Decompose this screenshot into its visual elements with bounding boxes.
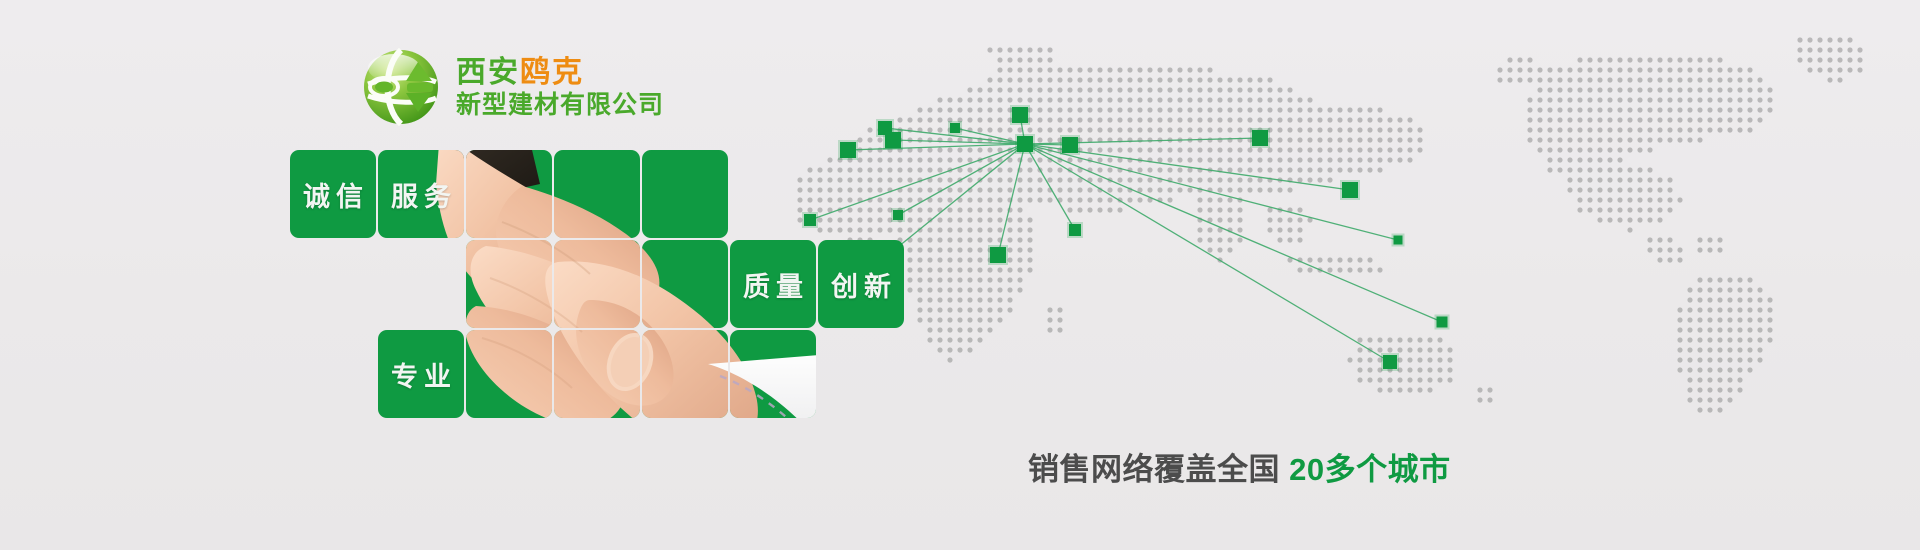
map-city-node (1342, 182, 1358, 198)
logo-brand-text: 鸥克 (520, 56, 584, 89)
photo-tile-t-r2c3[interactable] (466, 240, 552, 328)
handshake-photo-slice (730, 330, 816, 418)
handshake-photo-slice (466, 150, 552, 238)
map-hub-node (1017, 136, 1033, 152)
map-city-node (1062, 137, 1078, 153)
photo-tile-t-r1c5[interactable] (642, 150, 728, 238)
map-city-node (950, 123, 960, 133)
handshake-photo-slice (554, 150, 640, 238)
value-tile-t-r1c1[interactable]: 诚信 (290, 150, 376, 238)
handshake-photo-slice (466, 330, 552, 418)
photo-tile-t-r3c3[interactable] (466, 330, 552, 418)
photo-tile-t-r1c4[interactable] (554, 150, 640, 238)
handshake-photo-slice (642, 240, 728, 328)
value-tile-t-r2c7[interactable]: 创新 (818, 240, 904, 328)
logo-company-name-line2: 新型建材有限公司 (456, 91, 664, 120)
value-tile-label: 专业 (378, 330, 464, 418)
map-city-node (885, 132, 901, 148)
handshake-photo-slice (554, 240, 640, 328)
map-city-node (1383, 355, 1397, 369)
handshake-photo-slice (642, 330, 728, 418)
logo-company-name-line1: 西安鸥克 (456, 56, 664, 90)
map-city-node (990, 247, 1006, 263)
value-tile-t-r1c2[interactable]: 服务 (378, 150, 464, 238)
map-connection-line (1025, 144, 1075, 230)
value-tile-t-r2c6[interactable]: 质量 (730, 240, 816, 328)
value-tile-label: 创新 (818, 240, 904, 328)
sales-network-tagline: 销售网络覆盖全国 20多个城市 (1028, 444, 1451, 489)
photo-tile-t-r3c4[interactable] (554, 330, 640, 418)
map-connection-line (898, 144, 1025, 215)
tagline-prefix: 销售网络覆盖全国 (1028, 452, 1280, 487)
photo-tile-t-r3c5[interactable] (642, 330, 728, 418)
company-logo[interactable]: 西安鸥克 新型建材有限公司 (362, 48, 664, 126)
leaf-globe-emblem-icon (362, 48, 440, 126)
photo-tile-t-r2c4[interactable] (554, 240, 640, 328)
map-city-node (1012, 107, 1028, 123)
value-tile-label: 诚信 (290, 150, 376, 238)
map-city-node (1069, 224, 1081, 236)
map-city-node (1394, 236, 1403, 245)
map-city-node (1437, 317, 1448, 328)
value-tile-t-r3c2[interactable]: 专业 (378, 330, 464, 418)
banner-canvas: 西安鸥克 新型建材有限公司 诚信 (0, 0, 1920, 550)
map-connection-line (1025, 144, 1390, 362)
logo-city-text: 西安 (456, 56, 520, 89)
value-tile-label: 质量 (730, 240, 816, 328)
value-tile-label: 服务 (378, 150, 464, 238)
value-tile-mosaic: 诚信 服务 (290, 150, 910, 420)
photo-tile-t-r3c6[interactable] (730, 330, 816, 418)
photo-tile-t-r2c5[interactable] (642, 240, 728, 328)
handshake-photo-slice (554, 330, 640, 418)
handshake-photo-slice (466, 240, 552, 328)
map-city-node (1252, 130, 1268, 146)
map-dot-grid (797, 37, 1862, 412)
handshake-photo-slice (642, 150, 728, 238)
photo-tile-t-r1c3[interactable] (466, 150, 552, 238)
tagline-highlight: 20多个城市 (1289, 452, 1450, 487)
logo-wordmark: 西安鸥克 新型建材有限公司 (456, 54, 664, 120)
